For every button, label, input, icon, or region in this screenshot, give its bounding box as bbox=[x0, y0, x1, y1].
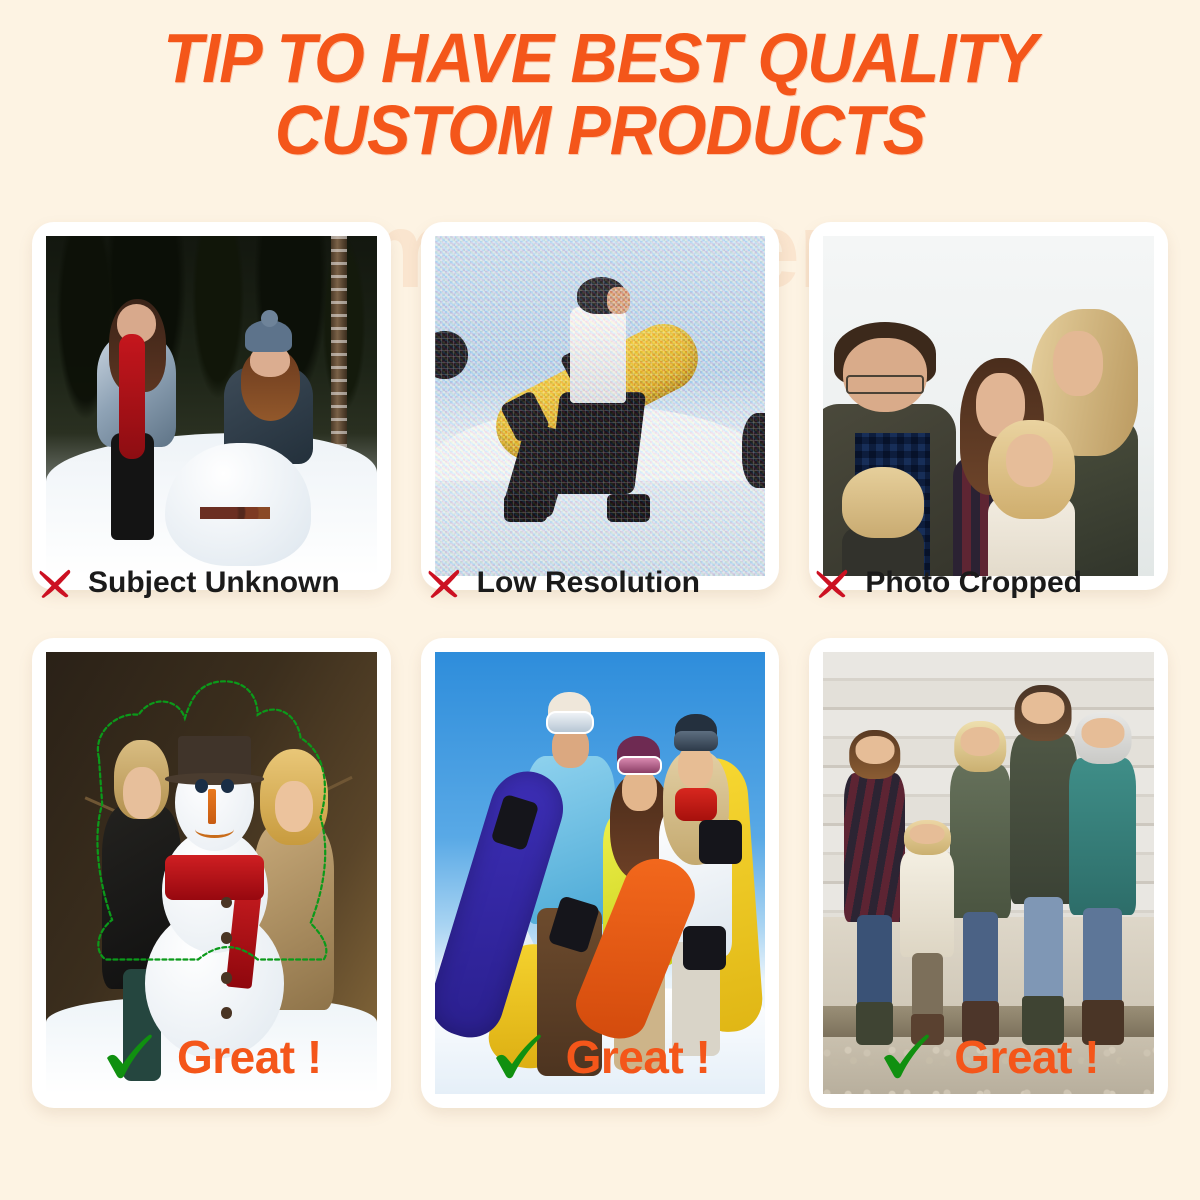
infographic-page: macorner TIP TO HAVE BEST QUALITY CUSTOM… bbox=[0, 0, 1200, 1200]
card-great-snowman: Great ! bbox=[32, 638, 391, 1108]
card-great-family: Great ! bbox=[809, 638, 1168, 1108]
caption-text: Photo Cropped bbox=[865, 566, 1082, 600]
cross-icon bbox=[425, 564, 463, 602]
page-title-line-1: TIP TO HAVE BEST QUALITY bbox=[42, 22, 1158, 94]
caption-photo-cropped: Photo Cropped bbox=[813, 556, 1168, 610]
photo-photo-cropped bbox=[823, 236, 1154, 576]
check-icon bbox=[490, 1030, 544, 1084]
check-icon bbox=[101, 1030, 155, 1084]
caption-text: Low Resolution bbox=[477, 566, 700, 600]
page-title: TIP TO HAVE BEST QUALITY CUSTOM PRODUCTS bbox=[42, 22, 1158, 166]
caption-text: Subject Unknown bbox=[88, 566, 340, 600]
page-title-line-2: CUSTOM PRODUCTS bbox=[42, 94, 1158, 166]
card-great-snowboarders: Great ! bbox=[421, 638, 780, 1108]
tips-grid: Subject Unknown bbox=[32, 222, 1168, 1108]
photo-card bbox=[32, 222, 391, 590]
caption-text: Great ! bbox=[177, 1030, 322, 1084]
check-icon bbox=[878, 1030, 932, 1084]
caption-low-resolution: Low Resolution bbox=[425, 556, 780, 610]
caption-text: Great ! bbox=[566, 1030, 711, 1084]
caption-text: Great ! bbox=[954, 1030, 1099, 1084]
caption-great-snowman: Great ! bbox=[32, 1020, 391, 1094]
photo-card bbox=[421, 222, 780, 590]
caption-subject-unknown: Subject Unknown bbox=[36, 556, 391, 610]
card-photo-cropped: Photo Cropped bbox=[809, 222, 1168, 604]
card-low-resolution: Low Resolution bbox=[421, 222, 780, 604]
card-subject-unknown: Subject Unknown bbox=[32, 222, 391, 604]
caption-great-family: Great ! bbox=[809, 1020, 1168, 1094]
caption-great-snowboarders: Great ! bbox=[421, 1020, 780, 1094]
cross-icon bbox=[36, 564, 74, 602]
photo-subject-unknown bbox=[46, 236, 377, 576]
photo-card bbox=[809, 222, 1168, 590]
cross-icon bbox=[813, 564, 851, 602]
photo-low-resolution bbox=[435, 236, 766, 576]
